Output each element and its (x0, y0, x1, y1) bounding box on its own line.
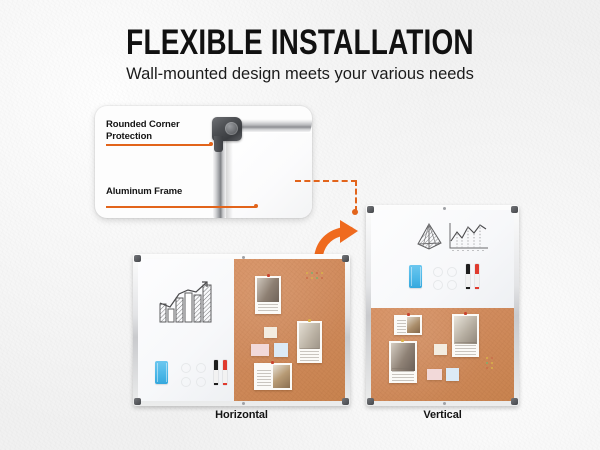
board-corner-cap (134, 398, 141, 405)
cork-note (251, 344, 269, 356)
cork-photo (394, 315, 422, 335)
eraser-icon (155, 361, 168, 384)
cork-note (274, 343, 288, 357)
board-corner-cap (342, 255, 349, 262)
push-pin-icon (267, 274, 270, 277)
callout-label-aluminum-frame: Aluminum Frame (106, 186, 182, 198)
wall-mount-point (443, 402, 446, 405)
push-pin-icon (407, 313, 410, 316)
page-title: FLEXIBLE INSTALLATION (60, 24, 540, 62)
magnet-icon (181, 377, 191, 387)
magnet-icon (433, 280, 443, 290)
corner-detail-callout: Rounded Corner Protection Aluminum Frame (95, 106, 312, 218)
cork-photo (452, 314, 479, 357)
vertical-board-surface (371, 210, 514, 401)
vertical-board (366, 205, 519, 406)
corner-closeup-illustration (195, 106, 312, 218)
pyramid-sketch-icon (416, 222, 443, 252)
horizontal-board-caption: Horizontal (133, 409, 350, 421)
push-pin-icon (401, 339, 404, 342)
magnet-icon (181, 363, 191, 373)
magnet-icon (447, 267, 457, 277)
cork-photo (297, 321, 322, 363)
board-corner-cap (367, 206, 374, 213)
cork-photo (254, 363, 292, 390)
callout-label-rounded-corner: Rounded Corner Protection (106, 119, 180, 142)
wall-mount-point (242, 402, 245, 405)
push-pin-icon (464, 312, 467, 315)
dashed-connector-endpoint (352, 209, 358, 215)
dashed-connector-icon-vertical (355, 180, 357, 212)
line-chart-sketch-icon (447, 221, 491, 253)
cork-photo (255, 276, 281, 314)
board-corner-cap (134, 255, 141, 262)
bar-chart-sketch-icon (159, 281, 217, 325)
vertical-board-frame (366, 205, 519, 406)
cork-note (427, 369, 442, 380)
marker-icon-red (475, 264, 479, 289)
horizontal-board-surface (138, 259, 345, 401)
board-corner-cap (511, 398, 518, 405)
horizontal-board (133, 254, 350, 406)
board-corner-cap (511, 206, 518, 213)
wall-mount-point (242, 256, 245, 259)
marker-icon-red (223, 360, 227, 385)
cork-note (264, 327, 277, 338)
cork-photo (389, 341, 417, 383)
magnet-icon (196, 377, 206, 387)
leader-line-icon-corner (106, 144, 211, 146)
magnet-icon (433, 267, 443, 277)
magnet-icon (196, 363, 206, 373)
cork-note (446, 368, 459, 381)
leader-line-icon-frame (106, 206, 256, 208)
corner-cap-boss (225, 122, 238, 135)
cork-note (434, 344, 447, 355)
board-corner-cap (367, 398, 374, 405)
push-pin-icon (308, 319, 311, 322)
product-feature-graphic: FLEXIBLE INSTALLATION Wall-mounted desig… (0, 0, 600, 450)
vertical-board-caption: Vertical (366, 409, 519, 421)
dashed-connector-icon-horizontal (295, 180, 357, 182)
magnet-icon (447, 280, 457, 290)
wall-mount-point (443, 207, 446, 210)
corner-cap-tail (214, 136, 223, 152)
board-corner-cap (342, 398, 349, 405)
page-subtitle: Wall-mounted design meets your various n… (9, 63, 591, 85)
marker-icon-black (214, 360, 218, 385)
horizontal-board-frame (133, 254, 350, 406)
marker-icon-black (466, 264, 470, 289)
push-pin-icon (271, 361, 274, 364)
eraser-icon (409, 265, 422, 288)
